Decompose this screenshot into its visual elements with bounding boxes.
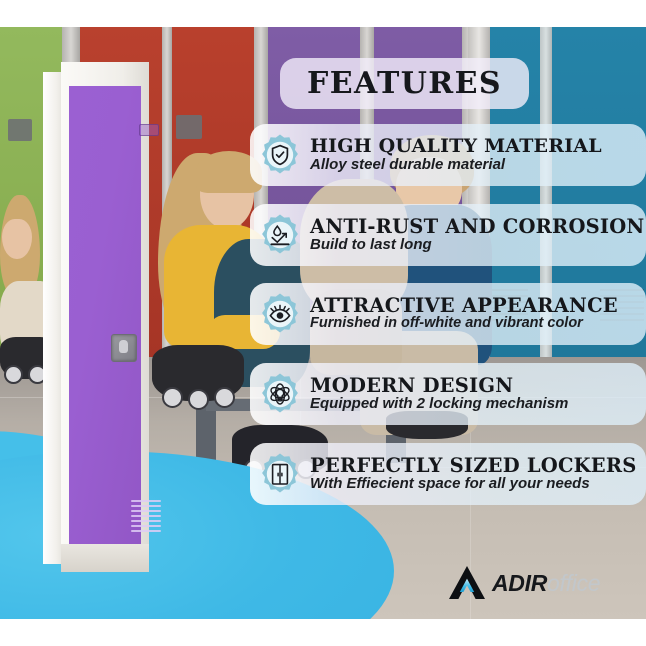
top-white-band — [0, 0, 646, 27]
infographic-canvas: FEATURES HIGH QUALITY MATERIAL Alloy ste… — [0, 0, 646, 646]
feature-text: MODERN DESIGN Equipped with 2 locking me… — [310, 376, 646, 413]
locker-door — [69, 86, 141, 544]
adir-chevron-mark-icon — [447, 566, 487, 600]
feature-row-anti-rust-and-corrosion[interactable]: ANTI-RUST AND CORROSION Build to last lo… — [250, 204, 646, 266]
feature-title: MODERN DESIGN — [310, 376, 636, 396]
feature-title: HIGH QUALITY MATERIAL — [310, 137, 636, 157]
water-droplet-repel-icon — [258, 213, 302, 257]
feature-row-modern-design[interactable]: MODERN DESIGN Equipped with 2 locking me… — [250, 363, 646, 425]
feature-title: ATTRACTIVE APPEARANCE — [310, 296, 636, 316]
door-handle — [139, 124, 159, 136]
feature-row-high-quality-material[interactable]: HIGH QUALITY MATERIAL Alloy steel durabl… — [250, 124, 646, 186]
door-lock-latch — [111, 334, 137, 362]
eye-icon — [258, 292, 302, 336]
feature-text: ATTRACTIVE APPEARANCE Furnished in off-w… — [310, 296, 646, 332]
features-heading: FEATURES — [280, 58, 529, 109]
locker-base — [61, 544, 149, 572]
page-title: FEATURES — [307, 66, 502, 101]
feature-title: ANTI-RUST AND CORROSION — [310, 217, 636, 237]
product-locker — [43, 62, 149, 572]
feature-row-attractive-appearance[interactable]: ATTRACTIVE APPEARANCE Furnished in off-w… — [250, 283, 646, 345]
feature-text: ANTI-RUST AND CORROSION Build to last lo… — [310, 217, 646, 254]
bottom-white-band — [0, 619, 646, 646]
logo-wordmark: ADIRoffice — [492, 572, 600, 595]
logo-secondary-text: office — [547, 570, 600, 596]
feature-subtitle: With Effiecient space for all your needs — [310, 476, 636, 493]
brand-logo[interactable]: ADIRoffice — [447, 563, 622, 603]
feature-subtitle: Alloy steel durable material — [310, 157, 636, 174]
wall-locker-latch — [8, 119, 32, 141]
feature-title: PERFECTLY SIZED LOCKERS — [310, 456, 636, 476]
shield-check-icon — [258, 133, 302, 177]
logo-primary-text: ADIR — [492, 570, 547, 596]
feature-subtitle: Furnished in off-white and vibrant color — [310, 316, 636, 332]
feature-subtitle: Equipped with 2 locking mechanism — [310, 396, 636, 413]
feature-subtitle: Build to last long — [310, 237, 636, 254]
feature-text: HIGH QUALITY MATERIAL Alloy steel durabl… — [310, 137, 646, 173]
atom-lightbulb-icon — [258, 372, 302, 416]
locker-cabinet-icon — [258, 452, 302, 496]
door-ventilation-slots — [131, 500, 161, 534]
wall-locker-latch — [176, 115, 202, 139]
feature-row-perfectly-sized-lockers[interactable]: PERFECTLY SIZED LOCKERS With Effiecient … — [250, 443, 646, 505]
feature-text: PERFECTLY SIZED LOCKERS With Effiecient … — [310, 456, 646, 493]
